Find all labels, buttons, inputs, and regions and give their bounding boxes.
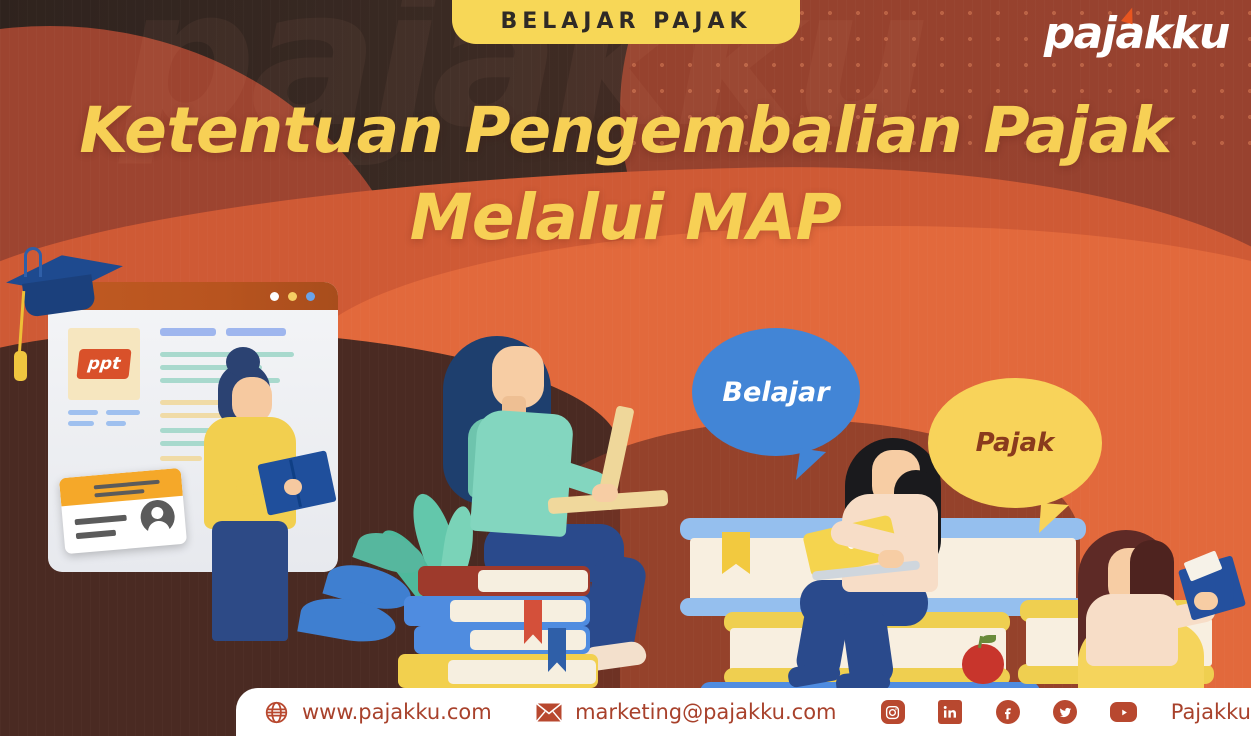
book-pages bbox=[478, 570, 588, 592]
placeholder-line bbox=[106, 410, 140, 415]
person-right-hand bbox=[1194, 592, 1218, 610]
person-rc-hand bbox=[878, 550, 904, 568]
poster-canvas: pajakku BELAJAR PAJAK pajakku Ketentuan … bbox=[0, 0, 1251, 736]
twitter-icon[interactable] bbox=[1053, 700, 1077, 724]
browser-dot-1 bbox=[270, 292, 279, 301]
placeholder-line bbox=[160, 413, 226, 418]
contact-footer-bar: www.pajakku.com marketing@pajakku.com bbox=[236, 688, 1251, 736]
illustration-left-group: ppt bbox=[0, 255, 360, 655]
paperclip-icon bbox=[24, 247, 42, 277]
apple-icon bbox=[962, 644, 1004, 684]
logo-text: pajakku bbox=[1044, 8, 1229, 59]
title-line-1: Ketentuan Pengembalian Pajak bbox=[0, 88, 1251, 175]
page-title: Ketentuan Pengembalian Pajak Melalui MAP bbox=[0, 88, 1251, 262]
placeholder-line bbox=[68, 421, 94, 426]
facebook-icon[interactable] bbox=[996, 700, 1020, 724]
ppt-thumbnail: ppt bbox=[68, 328, 140, 400]
speech-bubble-pajak: Pajak bbox=[928, 378, 1102, 508]
person-left-bun bbox=[226, 347, 260, 377]
graduation-tassel bbox=[18, 291, 25, 355]
speech-bubble-pajak-text: Pajak bbox=[976, 428, 1055, 458]
envelope-icon bbox=[536, 703, 562, 722]
title-line-2: Melalui MAP bbox=[0, 175, 1251, 262]
placeholder-line bbox=[106, 421, 126, 426]
book-pages bbox=[450, 600, 586, 622]
placeholder-line bbox=[68, 410, 98, 415]
placeholder-line bbox=[226, 328, 286, 336]
email-label[interactable]: marketing@pajakku.com bbox=[575, 700, 836, 724]
person-center-hand bbox=[592, 484, 618, 502]
id-card-avatar-icon bbox=[139, 499, 176, 536]
placeholder-line bbox=[160, 378, 222, 383]
person-left-hand bbox=[284, 479, 302, 495]
website-label[interactable]: www.pajakku.com bbox=[302, 700, 492, 724]
instagram-icon[interactable] bbox=[881, 700, 905, 724]
id-card-graphic bbox=[59, 468, 187, 554]
youtube-icon[interactable] bbox=[1110, 702, 1137, 722]
placeholder-line bbox=[160, 328, 216, 336]
id-card-line bbox=[75, 515, 127, 526]
ppt-label: ppt bbox=[76, 349, 131, 379]
graduation-tassel-end bbox=[14, 351, 27, 381]
globe-icon bbox=[264, 700, 289, 725]
browser-dot-3 bbox=[306, 292, 315, 301]
linkedin-icon[interactable] bbox=[938, 700, 962, 724]
placeholder-line bbox=[160, 456, 202, 461]
social-handle-label[interactable]: Pajakku bbox=[1171, 700, 1251, 724]
speech-bubble-tail bbox=[1039, 503, 1069, 535]
book-pages bbox=[448, 660, 596, 684]
pajakku-logo: pajakku bbox=[1044, 8, 1229, 59]
browser-dot-2 bbox=[288, 292, 297, 301]
id-card-line bbox=[76, 530, 116, 539]
belajar-pajak-badge: BELAJAR PAJAK bbox=[452, 0, 800, 44]
speech-bubble-belajar-text: Belajar bbox=[722, 377, 829, 408]
badge-label: BELAJAR PAJAK bbox=[500, 9, 751, 34]
person-left-legs bbox=[212, 521, 288, 641]
speech-bubble-tail bbox=[796, 448, 826, 483]
speech-bubble-belajar: Belajar bbox=[692, 328, 860, 456]
placeholder-line bbox=[254, 352, 294, 357]
